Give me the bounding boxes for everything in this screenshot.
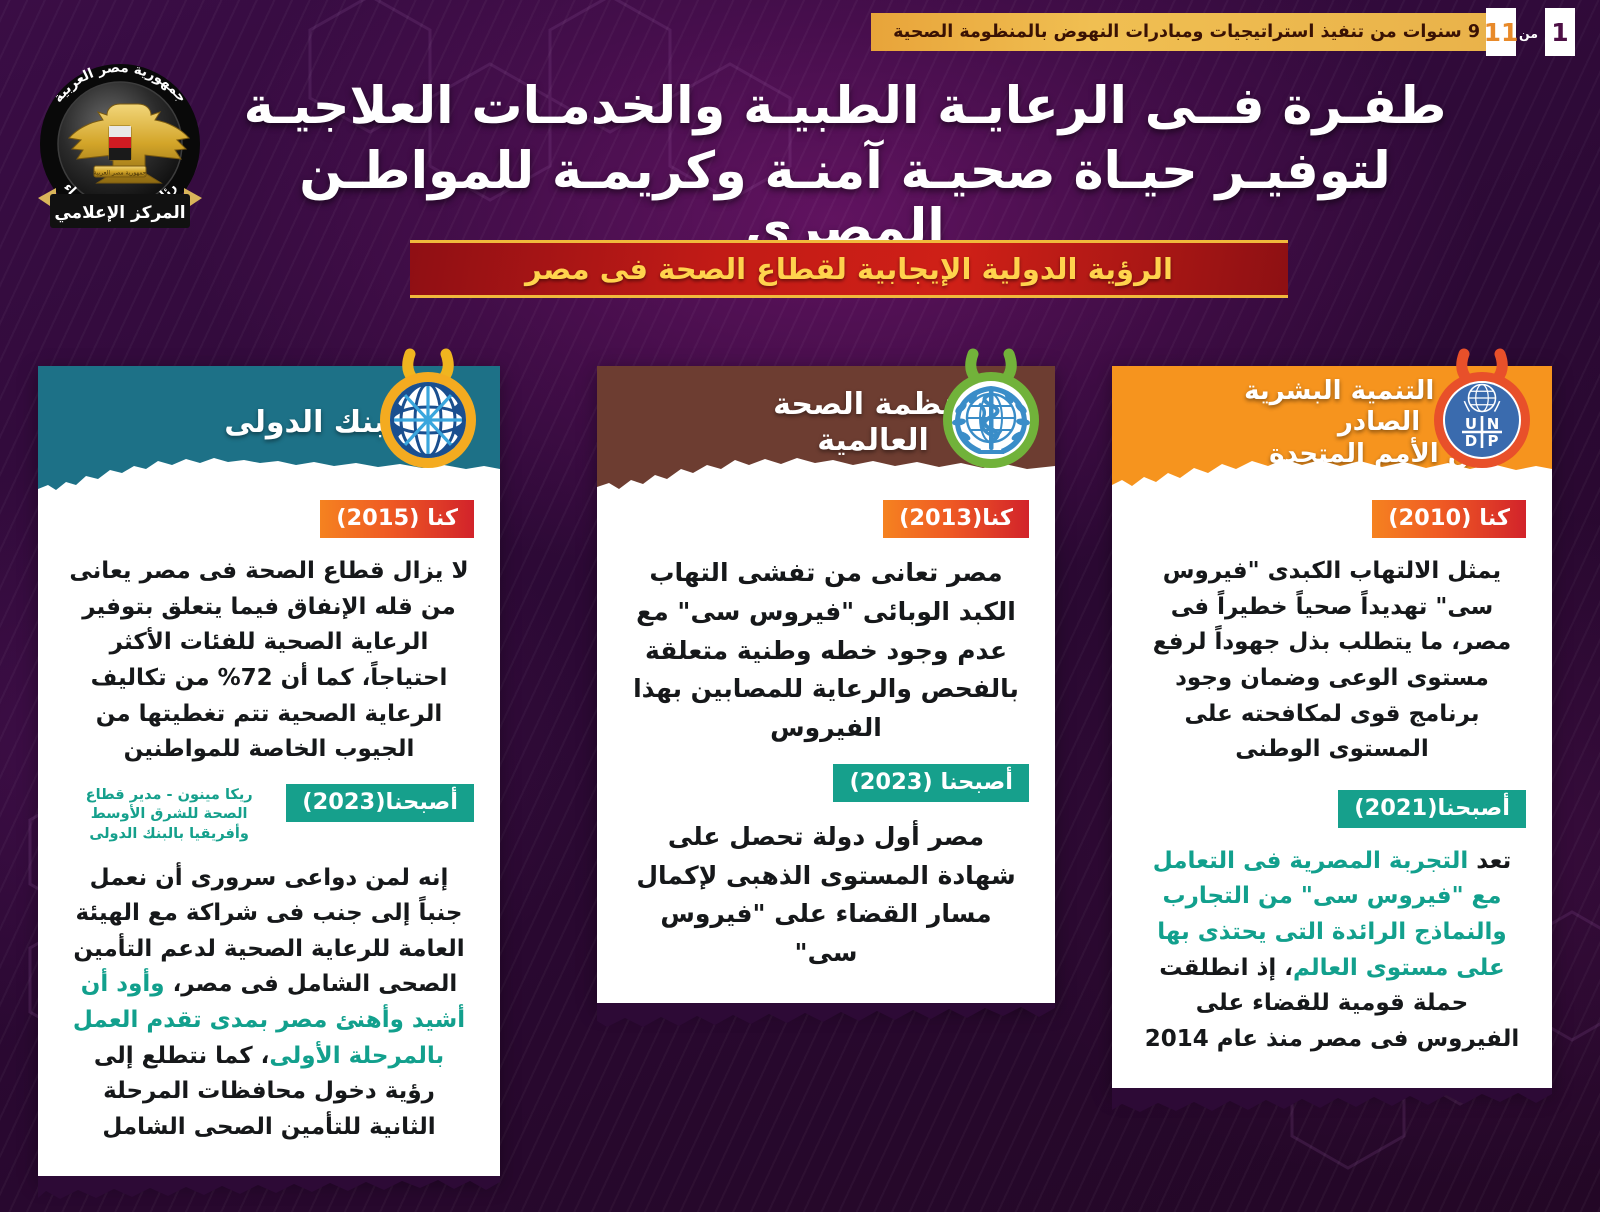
card-who-after-text: مصر أول دولة تحصل على شهادة المستوى الذه… bbox=[627, 818, 1025, 973]
infographic-canvas: 9 سنوات من تنفيذ استراتيجيات ومبادرات ال… bbox=[0, 0, 1600, 1212]
card-who: منظمة الصحة العالمية كنا(2013) مصر تعانى… bbox=[597, 366, 1055, 1007]
card-world-bank-after-text: إنه لمن دواعى سرورى أن نعمل جنباً إلى جن… bbox=[68, 861, 470, 1146]
after-text-part1: تعد bbox=[1468, 848, 1511, 874]
card-undp-after-text: تعد التجربة المصرية فى التعامل مع "فيروس… bbox=[1142, 844, 1522, 1058]
svg-text:N: N bbox=[1487, 415, 1500, 433]
page-current: 1 bbox=[1551, 18, 1568, 47]
title-block: طفـرة فــى الرعايـة الطبيـة والخدمـات ال… bbox=[240, 78, 1450, 257]
badge-before-2013: كنا(2013) bbox=[883, 500, 1029, 538]
page-of-label: من bbox=[1519, 26, 1538, 41]
page-title-line1: طفـرة فــى الرعايـة الطبيـة والخدمـات ال… bbox=[240, 78, 1450, 135]
egypt-cabinet-media-center-logo: جمهورية مصر العربية رئاسة مجلس الوزراء ج… bbox=[22, 48, 218, 244]
torn-edge-bottom bbox=[597, 1003, 1055, 1033]
card-undp-before-text: يمثل الالتهاب الكبدى "فيروس سى" تهديداً … bbox=[1142, 554, 1522, 768]
card-who-before-row: كنا(2013) bbox=[623, 500, 1029, 538]
page-current-box: 1 bbox=[1545, 8, 1575, 56]
card-who-before-text: مصر تعانى من تفشى التهاب الكبد الوبائى "… bbox=[627, 554, 1025, 748]
svg-text:P: P bbox=[1488, 432, 1499, 450]
who-emblem-icon bbox=[935, 348, 1047, 478]
badge-before-2015: كنا (2015) bbox=[320, 500, 474, 538]
torn-edge-bottom bbox=[1112, 1088, 1552, 1118]
badge-after-2023: أصبحنا (2023) bbox=[833, 764, 1029, 802]
header-banner: 9 سنوات من تنفيذ استراتيجيات ومبادرات ال… bbox=[871, 13, 1502, 51]
torn-edge-bottom bbox=[38, 1176, 500, 1206]
svg-text:المركز الإعلامي: المركز الإعلامي bbox=[54, 203, 185, 223]
subtitle-text: الرؤية الدولية الإيجابية لقطاع الصحة فى … bbox=[525, 252, 1173, 286]
card-world-bank-after-row: أصبحنا(2023) ريكا مينون - مدير قطاع الصح… bbox=[64, 784, 474, 845]
card-world-bank-before-text: لا يزال قطاع الصحة فى مصر يعانى من قله ا… bbox=[68, 554, 470, 768]
badge-after-2021: أصبحنا(2021) bbox=[1338, 790, 1526, 828]
card-undp-before-row: كنا (2010) bbox=[1138, 500, 1526, 538]
svg-text:U: U bbox=[1465, 415, 1477, 433]
badge-after-2023: أصبحنا(2023) bbox=[286, 784, 474, 822]
world-bank-globe-icon bbox=[372, 348, 484, 478]
header-banner-text: 9 سنوات من تنفيذ استراتيجيات ومبادرات ال… bbox=[893, 22, 1480, 42]
card-world-bank-before-row: كنا (2015) bbox=[64, 500, 474, 538]
card-world-bank: البنك الدولى كنا (2015) لا يزال قطاع الص… bbox=[38, 366, 500, 1180]
card-who-after-row: أصبحنا (2023) bbox=[623, 764, 1029, 802]
svg-text:D: D bbox=[1465, 432, 1477, 450]
subtitle-banner: الرؤية الدولية الإيجابية لقطاع الصحة فى … bbox=[410, 240, 1288, 298]
svg-text:جمهورية مصر العربية: جمهورية مصر العربية bbox=[94, 170, 147, 177]
card-undp-after-row: أصبحنا(2021) bbox=[1138, 790, 1526, 828]
page-total-box: 11 bbox=[1486, 8, 1516, 56]
page-total: 11 bbox=[1484, 18, 1519, 47]
card-undp: U N D P تقرير التنمية البشرية الصادر عن … bbox=[1112, 366, 1552, 1092]
card-world-bank-attribution: ريكا مينون - مدير قطاع الصحة للشرق الأوس… bbox=[64, 784, 274, 845]
undp-emblem-icon: U N D P bbox=[1426, 348, 1538, 478]
badge-before-2010: كنا (2010) bbox=[1372, 500, 1526, 538]
